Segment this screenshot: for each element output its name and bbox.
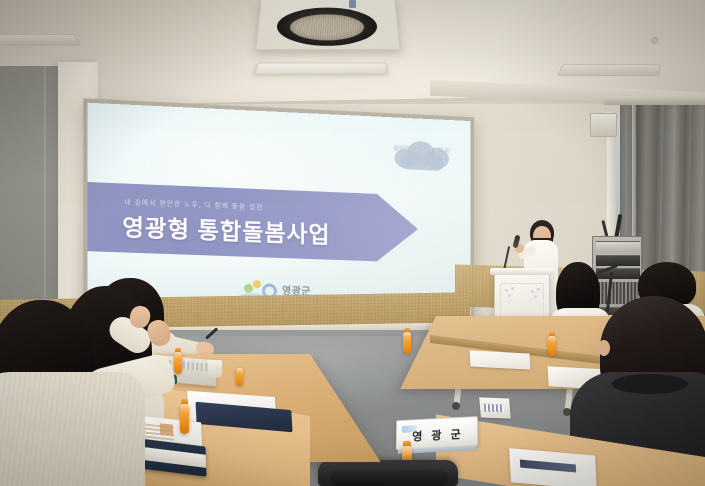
- document-on-right-table: [470, 350, 531, 369]
- ac-sensor-icon: [349, 0, 356, 8]
- slide-cloud-badge: 함께하는 주민 행복한 영광: [393, 139, 451, 171]
- attendee-foreground-right-ear: [598, 340, 610, 356]
- presentation-room-photo: 함께하는 주민 행복한 영광 내 집에서 편안한 노후, 다 함께 돌봄 실현 …: [0, 0, 705, 486]
- wall-speaker-icon: [590, 113, 617, 137]
- podium-dot: [511, 287, 514, 290]
- rack-unit: [596, 255, 640, 266]
- podium-dot: [508, 294, 511, 297]
- attendee-foreground-right-collar: [612, 374, 688, 394]
- podium-dot: [531, 290, 534, 293]
- ceiling-led-panel-left: [0, 34, 81, 45]
- podium-dot: [534, 295, 537, 298]
- vitamin-drink-bottle: [236, 368, 243, 386]
- vitamin-drink-bottle: [180, 404, 189, 434]
- ceiling-led-panel-center: [254, 63, 388, 75]
- vitamin-drink-bottle: [403, 332, 411, 354]
- ceiling-sprinkler-icon: [651, 37, 658, 44]
- document-image-block: [160, 423, 174, 435]
- paper-cup: [208, 360, 222, 378]
- left-wall-panel: [0, 66, 66, 321]
- small-card-text: [484, 404, 505, 413]
- podium-dot: [505, 289, 508, 292]
- vitamin-drink-bottle: [548, 336, 556, 356]
- table-caster: [452, 402, 460, 410]
- podium-top-surface: [490, 268, 554, 275]
- vitamin-drink-bottle: [174, 352, 182, 374]
- black-chair-seat[interactable]: [330, 470, 448, 486]
- attendee-left-1-fabric-texture: [0, 372, 145, 486]
- slide-badge-text: 함께하는 주민 행복한 영광: [393, 146, 451, 162]
- rack-unit: [596, 241, 640, 252]
- left-panel-seam: [44, 66, 46, 321]
- podium-dot: [537, 288, 540, 291]
- ceiling-led-panel-right: [557, 64, 660, 76]
- curtain-rod: [604, 96, 705, 105]
